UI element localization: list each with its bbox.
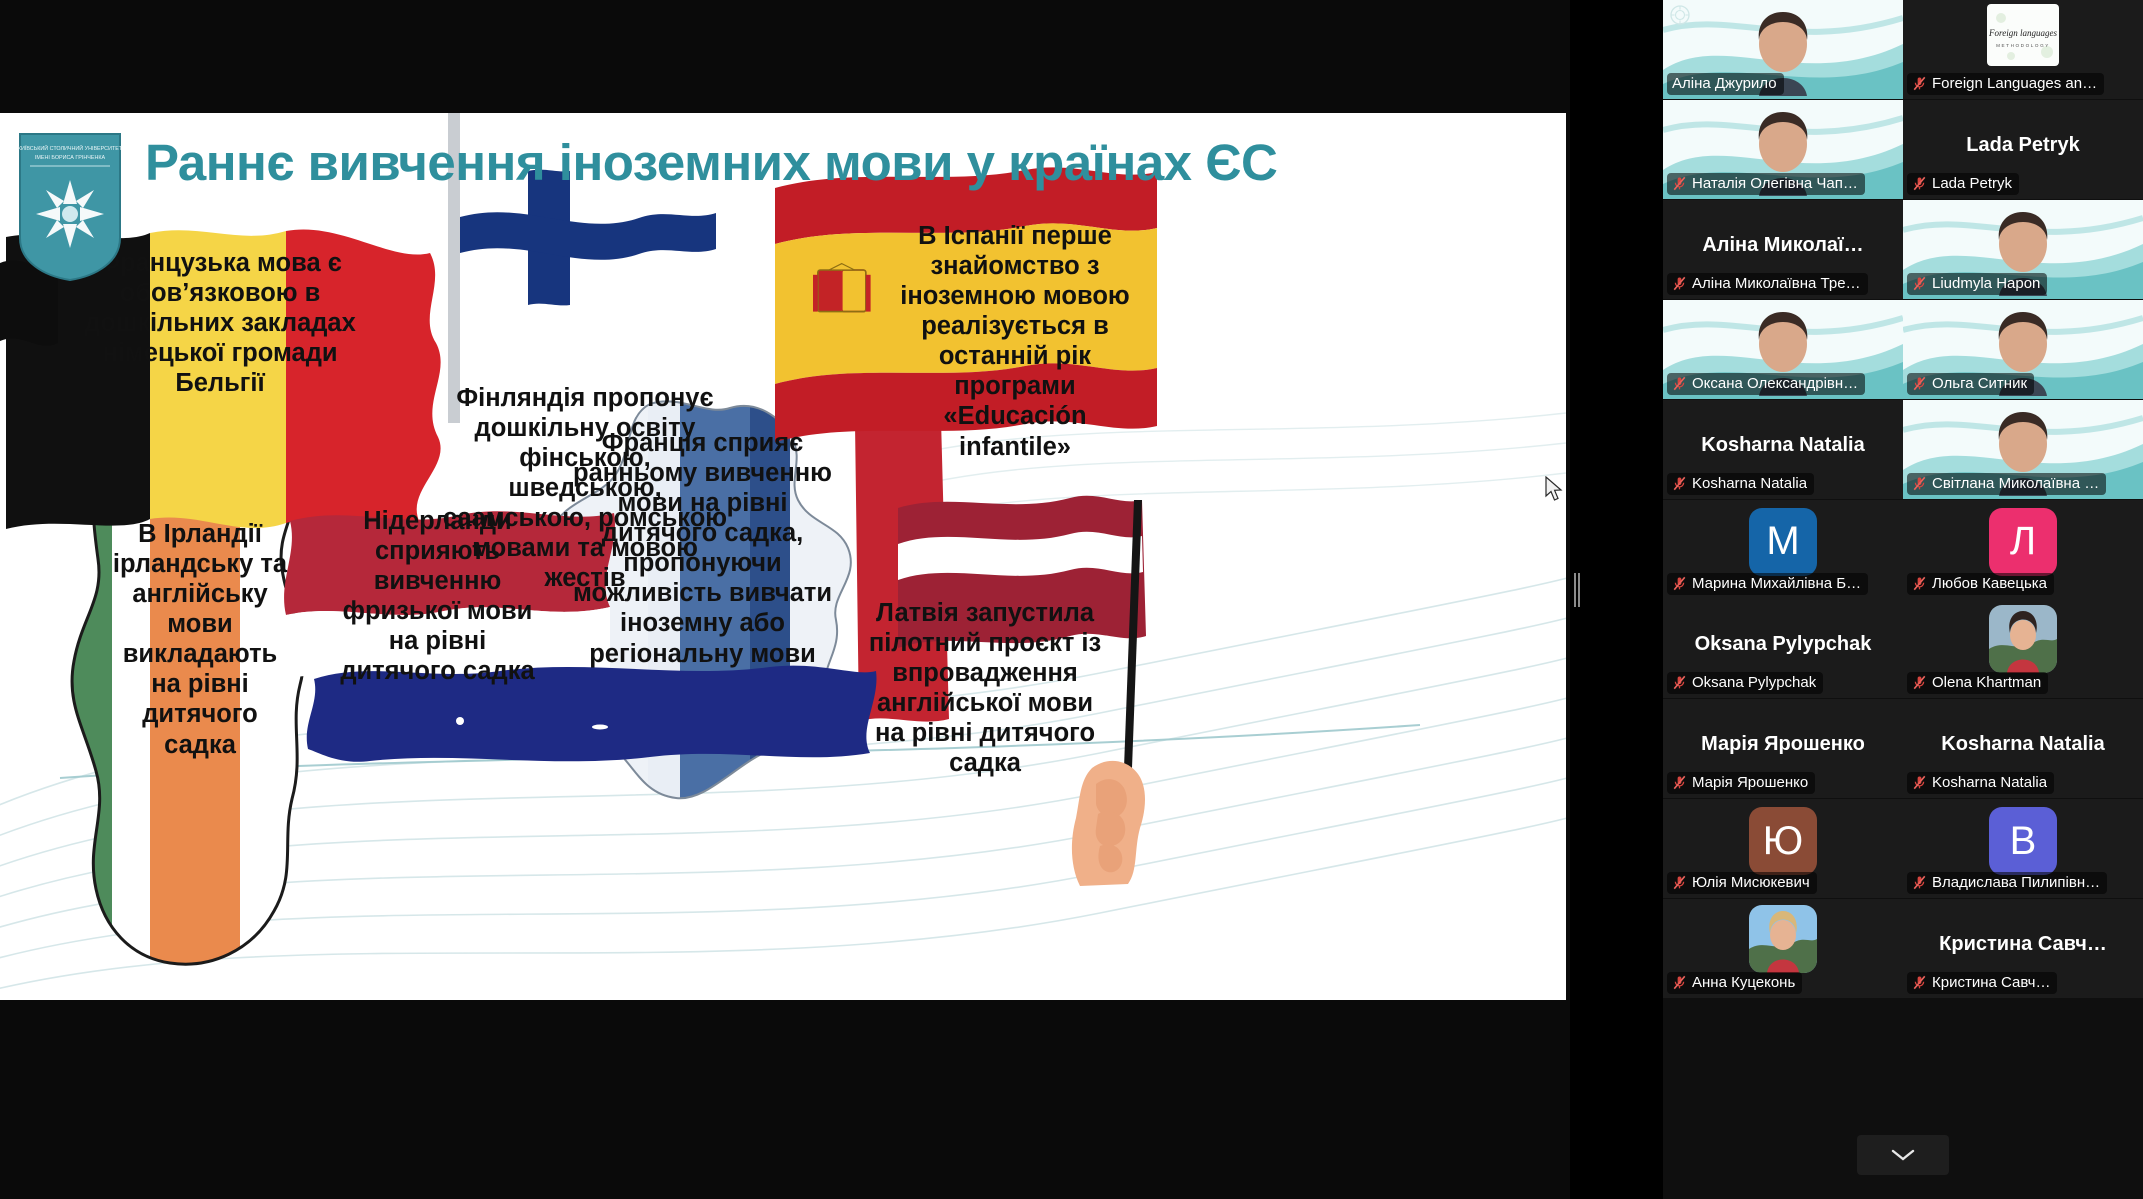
participant-large-name: Марія Ярошенко: [1663, 733, 1903, 756]
participant-nameplate: Наталія Олегівна Чап…: [1667, 173, 1865, 195]
participant-name: Оксана Олександрівн…: [1692, 375, 1858, 392]
mic-off-icon: [1672, 576, 1687, 591]
participant-tile[interactable]: Ольга Ситник: [1903, 300, 2143, 399]
meeting-window: КИЇВСЬКИЙ СТОЛИЧНИЙ УНІВЕРСИТЕТ ІМЕНІ БО…: [0, 0, 2143, 1199]
mic-off-icon: [1912, 875, 1927, 890]
participant-name: Анна Куцеконь: [1692, 974, 1795, 991]
participant-name: Кристина Савч…: [1932, 974, 2050, 991]
participant-nameplate: Kosharna Natalia: [1667, 473, 1814, 495]
participant-name: Юлія Мисюкевич: [1692, 874, 1810, 891]
participant-thumbnail-panel[interactable]: Аліна Джурило Foreign languages METHODOL…: [1663, 0, 2143, 1199]
participant-name: Foreign Languages an…: [1932, 75, 2097, 92]
svg-text:Foreign languages: Foreign languages: [1988, 28, 2057, 38]
participant-large-name: Lada Petryk: [1903, 134, 2143, 157]
university-logo-line2: ІМЕНІ БОРИСА ГРІНЧЕНКА: [35, 155, 106, 161]
participant-nameplate: Марія Ярошенко: [1667, 772, 1815, 794]
mic-off-icon: [1912, 176, 1927, 191]
participant-nameplate: Кристина Савч…: [1907, 972, 2057, 994]
participant-tile[interactable]: Olena Khartman: [1903, 599, 2143, 698]
text-block-spain-main: В Іспанії перше знайомство з іноземною м…: [900, 222, 1129, 400]
mic-off-icon: [1672, 476, 1687, 491]
virtual-background-badge-icon: [1669, 4, 1691, 26]
participant-avatar-initial: Ю: [1749, 807, 1817, 875]
mic-off-icon: [1912, 975, 1927, 990]
participant-tile[interactable]: Анна Куцеконь: [1663, 899, 1903, 998]
participant-name: Liudmyla Hapon: [1932, 275, 2040, 292]
participant-name: Марина Михайлівна Б…: [1692, 575, 1861, 592]
participant-nameplate: Liudmyla Hapon: [1907, 273, 2047, 295]
participant-name: Lada Petryk: [1932, 175, 2012, 192]
participant-avatar-photo: [1749, 905, 1817, 973]
text-block-spain: В Іспанії перше знайомство з іноземною м…: [900, 221, 1130, 462]
participant-name: Марія Ярошенко: [1692, 774, 1808, 791]
participant-nameplate: Foreign Languages an…: [1907, 73, 2104, 95]
participant-nameplate: Olena Khartman: [1907, 672, 2048, 694]
participant-name: Oksana Pylypchak: [1692, 674, 1816, 691]
mic-off-icon: [1672, 675, 1687, 690]
participant-tile[interactable]: Кристина Савч… Кристина Савч…: [1903, 899, 2143, 998]
panel-scroll-down-button[interactable]: [1857, 1135, 1949, 1175]
participant-nameplate: Kosharna Natalia: [1907, 772, 2054, 794]
participant-avatar-initial: М: [1749, 508, 1817, 576]
participant-name: Владислава Пилипівн…: [1932, 874, 2100, 891]
participant-tile[interactable]: Lada Petryk Lada Petryk: [1903, 100, 2143, 199]
participant-nameplate: Світлана Миколаївна …: [1907, 473, 2106, 495]
participant-photo: [1749, 905, 1817, 973]
mic-off-icon: [1912, 675, 1927, 690]
participant-tile[interactable]: Kosharna Natalia Kosharna Natalia: [1903, 699, 2143, 798]
participant-name: Наталія Олегівна Чап…: [1692, 175, 1858, 192]
participant-large-name: Аліна Миколаї…: [1663, 234, 1903, 257]
participant-nameplate: Ольга Ситник: [1907, 373, 2034, 395]
participant-tile[interactable]: Oksana Pylypchak Oksana Pylypchak: [1663, 599, 1903, 698]
participant-large-name: Кристина Савч…: [1903, 933, 2143, 956]
participant-nameplate: Аліна Миколаївна Тре…: [1667, 273, 1868, 295]
text-block-france: Франція сприяє ранньому вивченню мови на…: [570, 428, 835, 669]
participant-nameplate: Oksana Pylypchak: [1667, 672, 1823, 694]
participant-nameplate: Любов Кавецька: [1907, 573, 2054, 595]
mic-off-icon: [1912, 76, 1927, 91]
text-block-spain-program: «Educación infantile»: [900, 401, 1130, 461]
participant-avatar-photo: [1989, 605, 2057, 673]
participant-tile[interactable]: Світлана Миколаївна …: [1903, 400, 2143, 499]
slide-title: Раннє вивчення іноземних мови у країнах …: [145, 133, 1445, 192]
participant-tile[interactable]: М Марина Михайлівна Б…: [1663, 500, 1903, 599]
participant-nameplate: Аліна Джурило: [1667, 73, 1784, 95]
participant-large-name: Kosharna Natalia: [1903, 733, 2143, 756]
hand-holding-flag-icon: [1072, 761, 1145, 886]
participant-tile[interactable]: В Владислава Пилипівн…: [1903, 799, 2143, 898]
participant-tile[interactable]: Liudmyla Hapon: [1903, 200, 2143, 299]
participant-name: Аліна Миколаївна Тре…: [1692, 275, 1861, 292]
participant-name: Olena Khartman: [1932, 674, 2041, 691]
participant-avatar-initial: Л: [1989, 508, 2057, 576]
presentation-slide[interactable]: КИЇВСЬКИЙ СТОЛИЧНИЙ УНІВЕРСИТЕТ ІМЕНІ БО…: [0, 113, 1566, 1000]
university-logo-line1: КИЇВСЬКИЙ СТОЛИЧНИЙ УНІВЕРСИТЕТ: [18, 144, 123, 152]
text-block-ireland: В Ірландії ірландську та англійську мови…: [105, 519, 295, 760]
chevron-down-icon: [1889, 1147, 1917, 1163]
participant-tile[interactable]: Аліна Джурило: [1663, 0, 1903, 99]
participant-name: Любов Кавецька: [1932, 575, 2047, 592]
mic-off-icon: [1912, 476, 1927, 491]
participant-name: Kosharna Natalia: [1932, 774, 2047, 791]
university-logo-icon: КИЇВСЬКИЙ СТОЛИЧНИЙ УНІВЕРСИТЕТ ІМЕНІ БО…: [14, 130, 126, 283]
text-block-latvia: Латвія запустила пілотний проєкт із впро…: [860, 598, 1110, 778]
participant-nameplate: Марина Михайлівна Б…: [1667, 573, 1868, 595]
participant-photo: [1989, 605, 2057, 673]
mic-off-icon: [1672, 276, 1687, 291]
participant-tile[interactable]: Наталія Олегівна Чап…: [1663, 100, 1903, 199]
participant-tile[interactable]: Аліна Миколаї… Аліна Миколаївна Тре…: [1663, 200, 1903, 299]
participant-name: Kosharna Natalia: [1692, 475, 1807, 492]
participant-nameplate: Юлія Мисюкевич: [1667, 872, 1817, 894]
mic-off-icon: [1672, 775, 1687, 790]
participant-tile[interactable]: Kosharna Natalia Kosharna Natalia: [1663, 400, 1903, 499]
mic-off-icon: [1672, 875, 1687, 890]
svg-text:METHODOLOGY: METHODOLOGY: [1996, 43, 2050, 48]
participant-name: Ольга Ситник: [1932, 375, 2027, 392]
participant-nameplate: Оксана Олександрівн…: [1667, 373, 1865, 395]
mic-off-icon: [1672, 176, 1687, 191]
shared-screen-stage[interactable]: КИЇВСЬКИЙ СТОЛИЧНИЙ УНІВЕРСИТЕТ ІМЕНІ БО…: [0, 0, 1570, 1199]
mic-off-icon: [1912, 775, 1927, 790]
panel-resize-handle[interactable]: [1572, 573, 1582, 607]
participant-nameplate: Владислава Пилипівн…: [1907, 872, 2107, 894]
participant-tile[interactable]: Foreign languages METHODOLOGY Foreign La…: [1903, 0, 2143, 99]
mouse-cursor: [1545, 476, 1563, 502]
mic-off-icon: [1672, 376, 1687, 391]
participant-name: Аліна Джурило: [1672, 75, 1777, 92]
mic-off-icon: [1672, 975, 1687, 990]
participant-nameplate: Lada Petryk: [1907, 173, 2019, 195]
participant-nameplate: Анна Куцеконь: [1667, 972, 1802, 994]
mic-off-icon: [1912, 576, 1927, 591]
mic-off-icon: [1912, 276, 1927, 291]
participant-large-name: Oksana Pylypchak: [1663, 633, 1903, 656]
mic-off-icon: [1912, 376, 1927, 391]
participant-tile[interactable]: Л Любов Кавецька: [1903, 500, 2143, 599]
participant-name: Світлана Миколаївна …: [1932, 475, 2099, 492]
participant-avatar-initial: В: [1989, 807, 2057, 875]
participant-tile[interactable]: Ю Юлія Мисюкевич: [1663, 799, 1903, 898]
text-block-netherlands: Нідерланди сприяють вивченню фризької мо…: [330, 506, 545, 686]
participant-tile[interactable]: Оксана Олександрівн…: [1663, 300, 1903, 399]
participant-tile[interactable]: Марія Ярошенко Марія Ярошенко: [1663, 699, 1903, 798]
participant-large-name: Kosharna Natalia: [1663, 434, 1903, 457]
